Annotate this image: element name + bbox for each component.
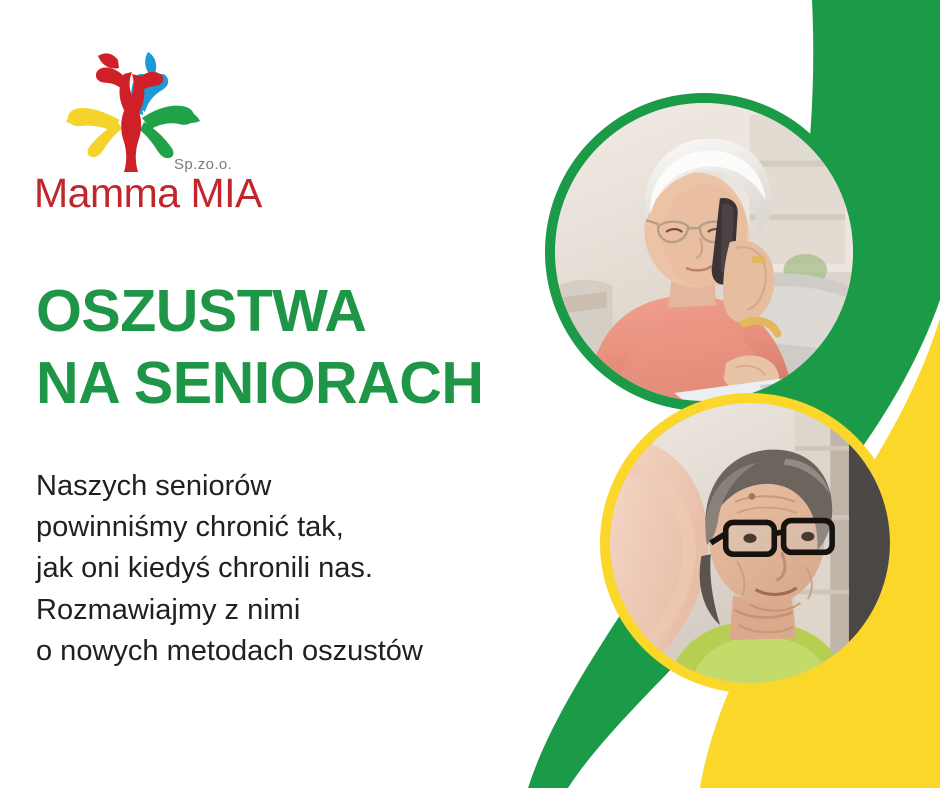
body-line-1: Naszych seniorów xyxy=(36,466,516,507)
photo-senior-on-phone xyxy=(545,93,863,411)
headline-line-2: NA SENIORACH xyxy=(36,348,536,420)
brand-logo: Sp.zo.o. Mamma MIA xyxy=(34,52,264,217)
poster: Sp.zo.o. Mamma MIA OSZUSTWA NA SENIORACH… xyxy=(0,0,940,788)
headline-line-1: OSZUSTWA xyxy=(36,276,536,348)
page-title: OSZUSTWA NA SENIORACH xyxy=(36,276,536,420)
body-line-2: powinniśmy chronić tak, xyxy=(36,507,516,548)
photo-senior-with-glasses xyxy=(600,393,900,693)
logo-company-name: Mamma MIA xyxy=(34,170,262,217)
body-line-4: Rozmawiajmy z nimi xyxy=(36,590,516,631)
photo-senior-on-phone-image xyxy=(555,103,853,401)
tree-logo-icon xyxy=(56,52,206,172)
photo-senior-with-glasses-image xyxy=(610,403,890,683)
body-line-3: jak oni kiedyś chronili nas. xyxy=(36,548,516,589)
body-copy: Naszych seniorów powinniśmy chronić tak,… xyxy=(36,466,516,672)
body-line-5: o nowych metodach oszustów xyxy=(36,631,516,672)
